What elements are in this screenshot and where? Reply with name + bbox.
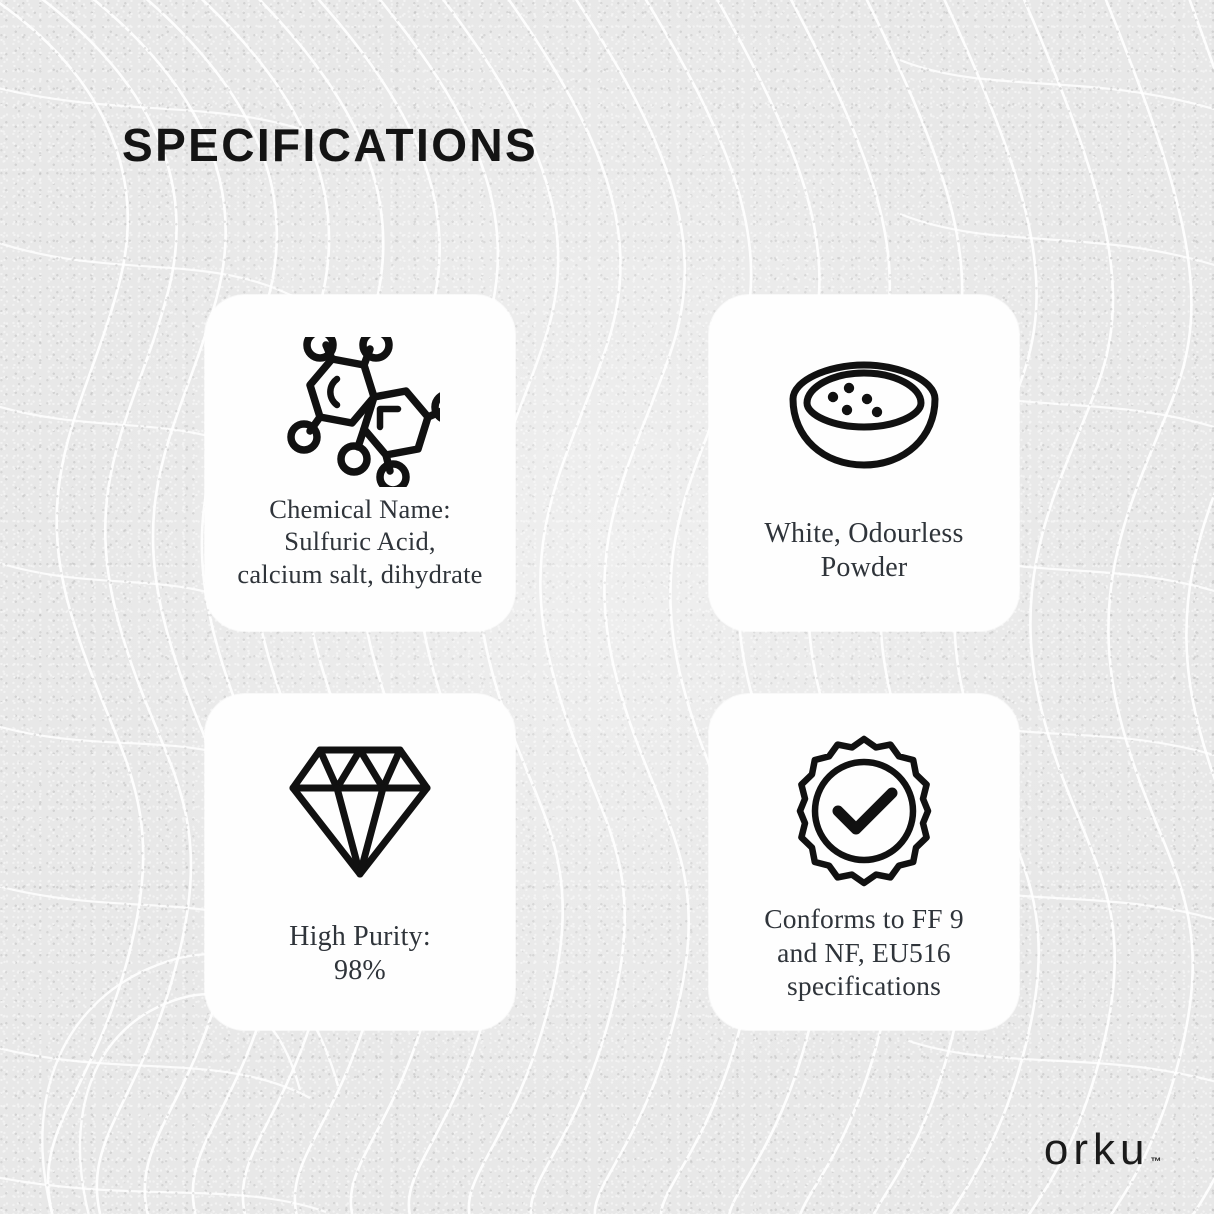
- brand-wordmark: orku: [1044, 1128, 1150, 1172]
- spec-card-chemical-name: Chemical Name: Sulfuric Acid, calcium sa…: [205, 295, 515, 631]
- spec-card-high-purity: High Purity: 98%: [205, 694, 515, 1030]
- caption-line: calcium salt, dihydrate: [213, 558, 507, 590]
- brand-logo: orku ™: [1044, 1128, 1162, 1172]
- specification-card-grid: Chemical Name: Sulfuric Acid, calcium sa…: [205, 295, 1019, 1030]
- caption-line: Powder: [717, 551, 1011, 585]
- caption-line: Sulfuric Acid,: [213, 525, 507, 557]
- certified-badge-icon: [788, 736, 940, 886]
- caption-line: Conforms to FF 9: [717, 902, 1011, 936]
- caption-line: specifications: [717, 969, 1011, 1003]
- card-caption-chemical-name: Chemical Name: Sulfuric Acid, calcium sa…: [205, 493, 515, 590]
- page-title: SPECIFICATIONS: [122, 122, 538, 168]
- card-caption-conformance: Conforms to FF 9 and NF, EU516 specifica…: [709, 902, 1019, 1003]
- diamond-icon: [287, 736, 433, 886]
- caption-line: 98%: [213, 954, 507, 988]
- caption-line: Chemical Name:: [213, 493, 507, 525]
- spec-card-appearance: White, Odourless Powder: [709, 295, 1019, 631]
- powder-bowl-icon: [779, 337, 949, 487]
- trademark-symbol: ™: [1151, 1156, 1163, 1168]
- card-caption-high-purity: High Purity: 98%: [205, 920, 515, 988]
- spec-card-conformance: Conforms to FF 9 and NF, EU516 specifica…: [709, 694, 1019, 1030]
- molecule-icon: [280, 337, 440, 487]
- caption-line: High Purity:: [213, 920, 507, 954]
- caption-line: and NF, EU516: [717, 936, 1011, 970]
- caption-line: White, Odourless: [717, 517, 1011, 551]
- card-caption-appearance: White, Odourless Powder: [709, 517, 1019, 585]
